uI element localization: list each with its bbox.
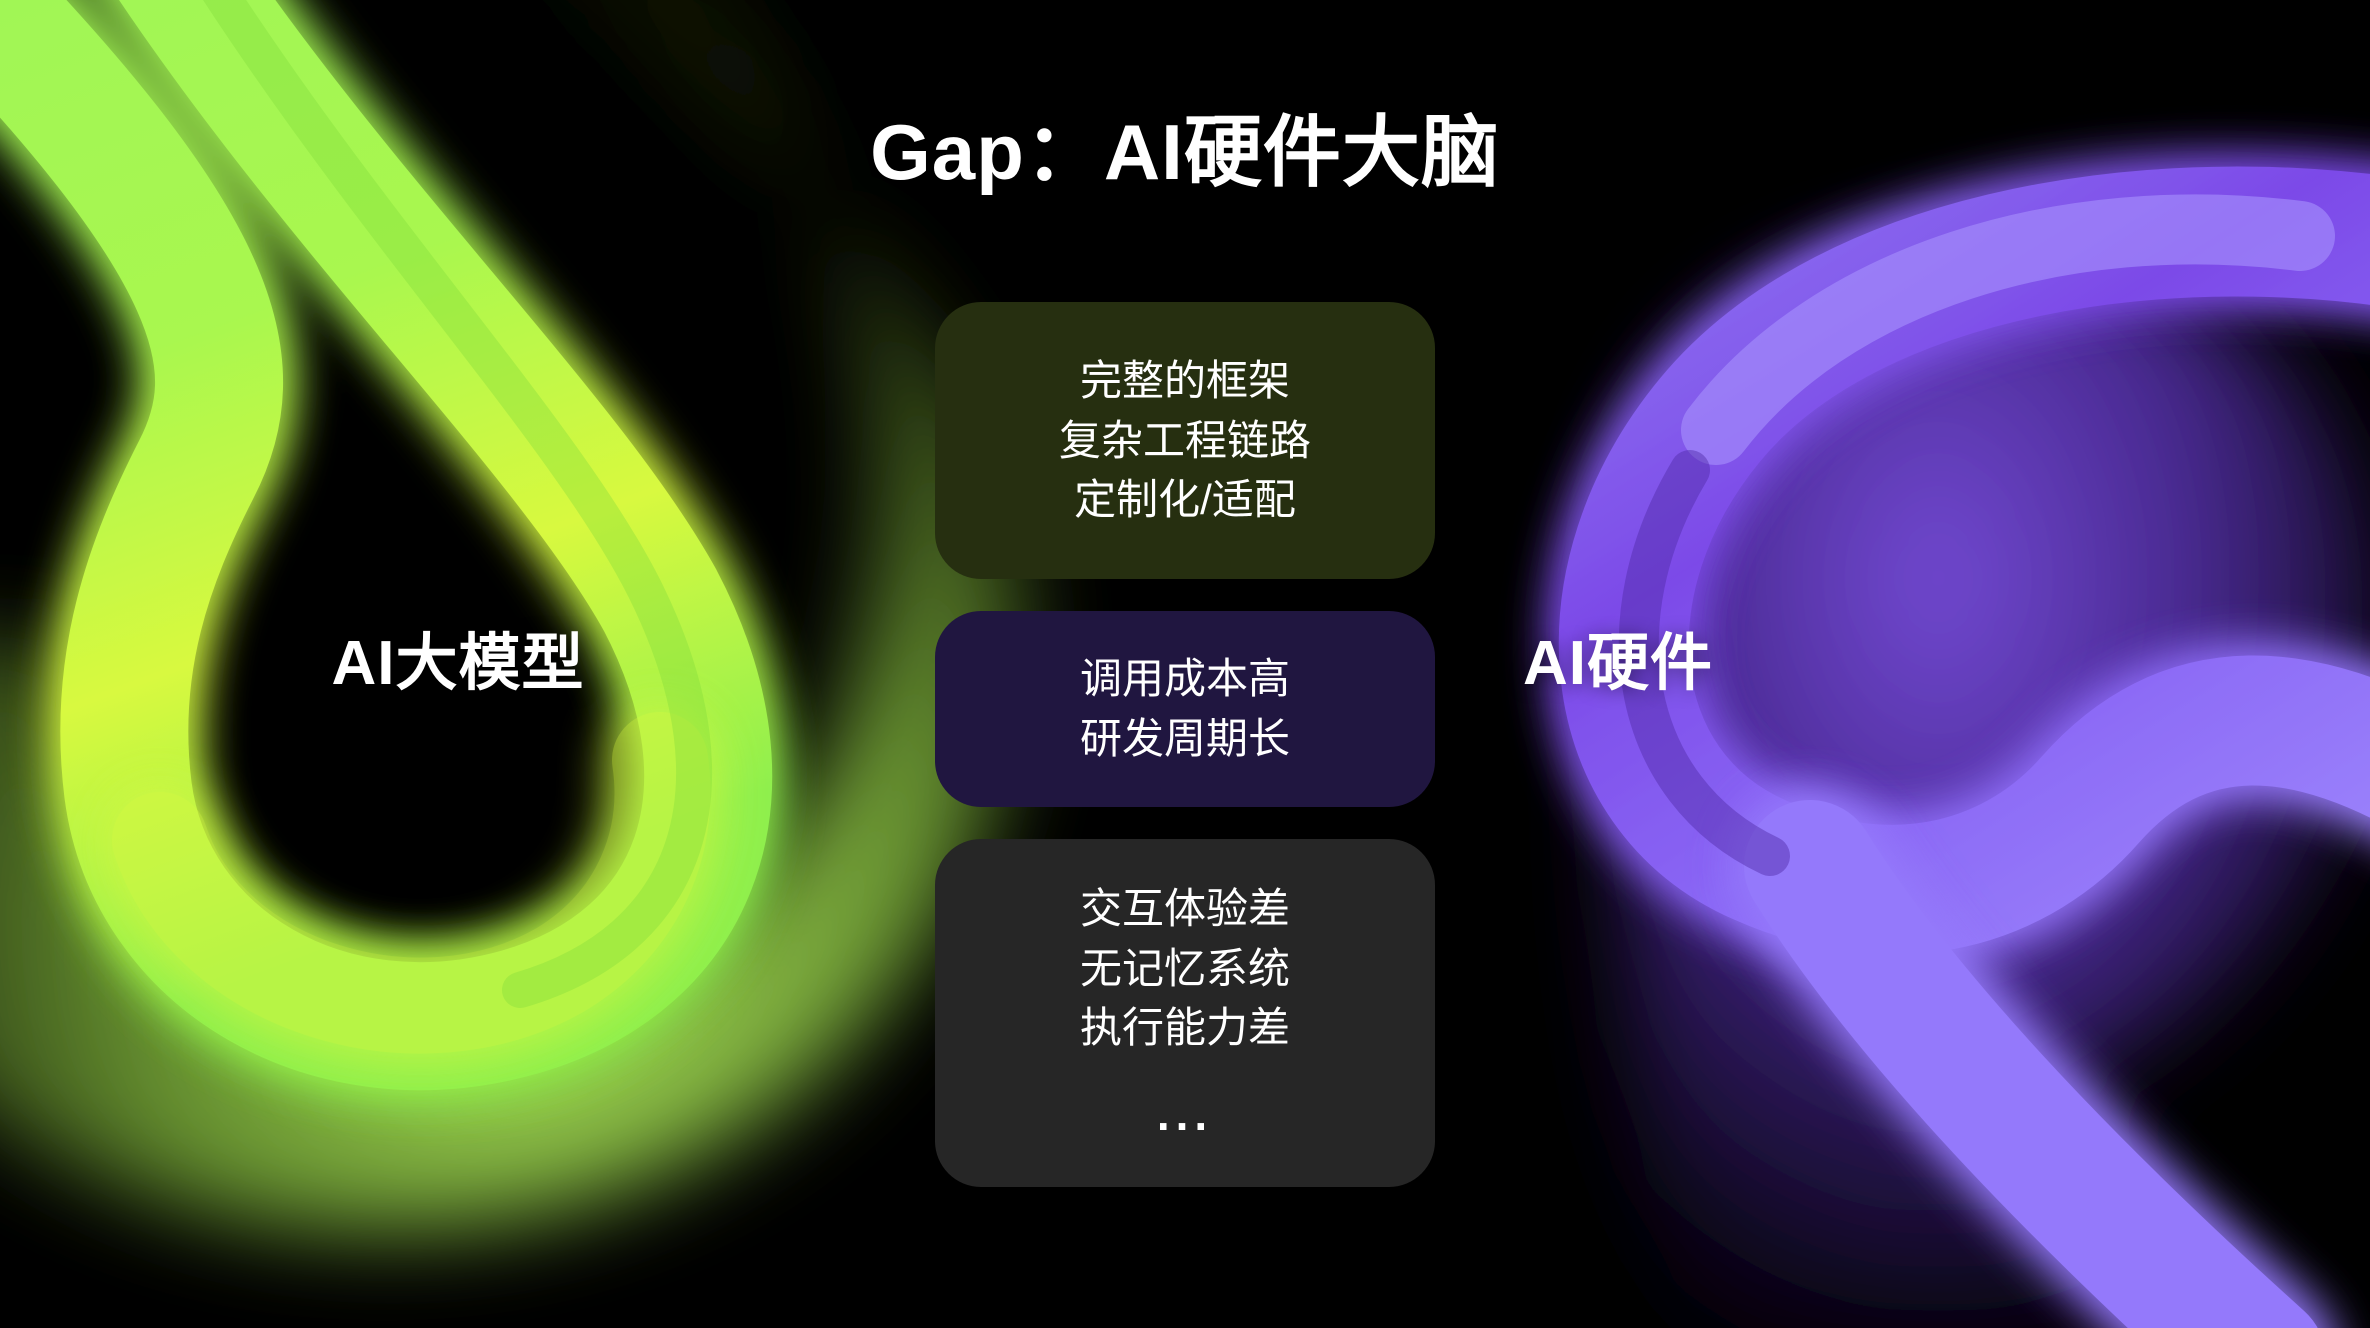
- card-line: 定制化/适配: [1074, 470, 1296, 530]
- card-line: 复杂工程链路: [1059, 411, 1311, 471]
- card-line: 交互体验差: [1080, 879, 1290, 939]
- framework-gap-card: 完整的框架 复杂工程链路 定制化/适配: [935, 302, 1435, 579]
- card-line: 调用成本高: [1080, 649, 1290, 709]
- experience-gap-card: 交互体验差 无记忆系统 执行能力差 ...: [935, 839, 1435, 1187]
- card-ellipsis: ...: [1157, 1082, 1213, 1147]
- left-blob-label: AI大模型: [178, 612, 738, 702]
- card-line: 执行能力差: [1080, 998, 1290, 1058]
- card-line: 完整的框架: [1080, 351, 1290, 411]
- slide-canvas: AI大模型 AI硬件 Gap：AI硬件大脑 完整的框架 复杂工程链路 定制化/适…: [0, 0, 2370, 1328]
- card-line: 研发周期长: [1080, 709, 1290, 769]
- page-title: Gap：AI硬件大脑: [0, 112, 2370, 194]
- gap-card-list: 完整的框架 复杂工程链路 定制化/适配 调用成本高 研发周期长 交互体验差 无记…: [935, 302, 1435, 1187]
- cost-gap-card: 调用成本高 研发周期长: [935, 611, 1435, 807]
- card-line: 无记忆系统: [1080, 939, 1290, 999]
